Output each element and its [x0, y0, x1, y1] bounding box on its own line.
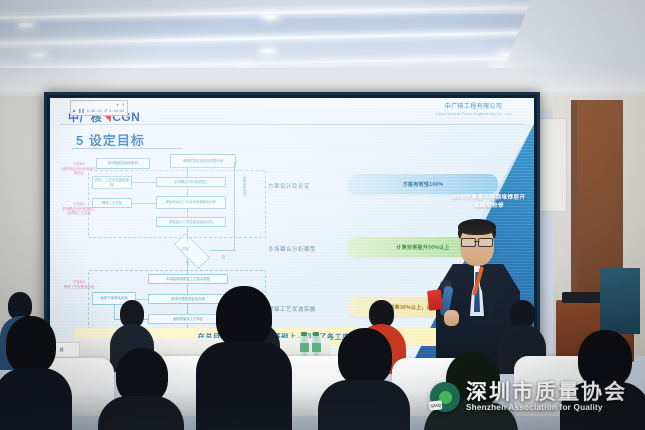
subgoal-3-text: 现场工艺实施及验收	[64, 285, 95, 289]
flow-connector	[187, 227, 188, 241]
flow-decision-node	[174, 233, 210, 269]
subgoal-2-text: 多场耦合分析模型建立及焊接工艺优选	[62, 207, 96, 216]
flow-feedback-label: 反馈优化迭代	[242, 176, 246, 232]
title-underline	[72, 148, 182, 149]
goal-stage-1: 方案设计及论证	[268, 182, 310, 190]
elapsed-time: 0:00:09	[87, 109, 102, 113]
flow-node: 焊接接头力学性能及组织分析	[156, 217, 226, 227]
ceiling-cove-light-2	[0, 30, 600, 46]
downlight	[30, 52, 46, 58]
ceiling	[0, 0, 645, 100]
watermark-name-en: Shenzhen Association for Quality	[466, 404, 627, 413]
audience-head	[338, 328, 392, 386]
subgoal-1-text: 缺陷成因分析和返修方案制定	[62, 167, 96, 176]
subgoal-1: 子目标1 缺陷成因分析和返修方案制定	[62, 162, 96, 176]
szaq-logo-text: SZAQ	[429, 401, 443, 411]
watermark: SZAQ 深圳市质量协会 Shenzhen Association for Qu…	[430, 382, 627, 413]
flow-node: 中厚板焊接修复工艺技术规程	[148, 274, 228, 284]
flow-node: 多场耦合分析模型建立	[156, 177, 226, 187]
subgoal-1-name: 子目标1	[73, 162, 85, 166]
flow-connector	[187, 304, 188, 314]
flow-connector	[187, 168, 188, 177]
flow-feedback-connector	[210, 250, 235, 251]
flow-branch-no: 否	[222, 254, 225, 259]
total-time: 0:04:05	[109, 109, 124, 113]
glasses-lens-left	[461, 238, 476, 247]
flow-connector	[187, 187, 188, 196]
company-name-en: China Nuclear Power Engineering Co., Ltd…	[435, 112, 512, 116]
bottle-label	[300, 343, 309, 352]
downlight	[260, 48, 276, 54]
flow-node: 堆焊层裂纹成因及机理分析	[170, 154, 236, 168]
company-name-cn: 中广核工程有限公司	[435, 104, 512, 112]
flow-connector	[132, 182, 156, 183]
subgoal-2: 子目标2 多场耦合分析模型建立及焊接工艺优选	[62, 202, 96, 216]
media-transport[interactable]: ▶ ❚❚ 0:00:09 ↺ 0:04:05	[73, 107, 125, 114]
flow-node: 现场勘察及缺陷取样	[96, 158, 150, 169]
minimize-icon[interactable]: ▾	[117, 103, 119, 107]
pause-icon[interactable]: ❚❚	[78, 109, 85, 113]
goal-target-1: 方案有效性100%	[348, 174, 498, 194]
flow-connector	[236, 161, 237, 162]
downlight	[18, 22, 34, 28]
flow-decision-label: 达标	[182, 246, 189, 251]
szaq-logo-badge: SZAQ	[429, 401, 443, 411]
downlight	[262, 14, 278, 20]
flow-connector	[187, 209, 188, 217]
equipment-rack	[600, 268, 640, 334]
presenter-badge	[427, 289, 443, 310]
slide-title: 5 设定目标	[76, 130, 145, 149]
audience-head	[216, 286, 272, 348]
play-icon[interactable]: ▶	[73, 109, 76, 113]
flow-feedback-connector	[234, 162, 235, 250]
audience-head	[578, 330, 632, 388]
flow-node: 焊接残余应力与变形数值模拟分析	[156, 196, 226, 209]
subgoal-3-name: 子目标3	[73, 280, 85, 284]
subgoal-2-name: 子目标2	[73, 202, 85, 206]
presenter-hair-top	[458, 219, 496, 235]
goal-stage-2: 多场耦合分析模型	[268, 245, 316, 253]
szaq-logo-icon: SZAQ	[430, 382, 460, 412]
wedge-callout-text: RPV大厚度不锈钢堆焊层开裂缺陷抢修	[452, 194, 526, 211]
presenter-glasses	[461, 238, 493, 245]
glasses-lens-right	[478, 238, 493, 247]
flow-connector	[132, 203, 156, 204]
watermark-text: 深圳市质量协会 Shenzhen Association for Quality	[466, 382, 627, 413]
close-icon[interactable]: ✕	[122, 103, 125, 107]
media-control-bar[interactable]: ▾ ✕ ▶ ❚❚ 0:00:09 ↺ 0:04:05	[70, 100, 128, 116]
loop-icon[interactable]: ↺	[104, 109, 107, 113]
audience-head	[6, 316, 56, 374]
screenshot-root: 中广核◥CGN 中广核工程有限公司 China Nuclear Power En…	[0, 0, 645, 430]
flow-connector	[187, 258, 188, 274]
flow-node: 材料、工艺及性能数据库	[92, 176, 132, 189]
presenter-hand	[444, 310, 459, 326]
header-divider	[60, 124, 524, 125]
flow-node: 焊接工艺试验	[92, 198, 132, 208]
flow-connector	[187, 284, 188, 294]
company-name-block: 中广核工程有限公司 China Nuclear Power Engineerin…	[435, 104, 512, 116]
bottle-cap	[301, 332, 307, 336]
subgoal-3: 子目标3 现场工艺实施及验收	[62, 280, 96, 289]
watermark-name-cn: 深圳市质量协会	[466, 382, 627, 404]
